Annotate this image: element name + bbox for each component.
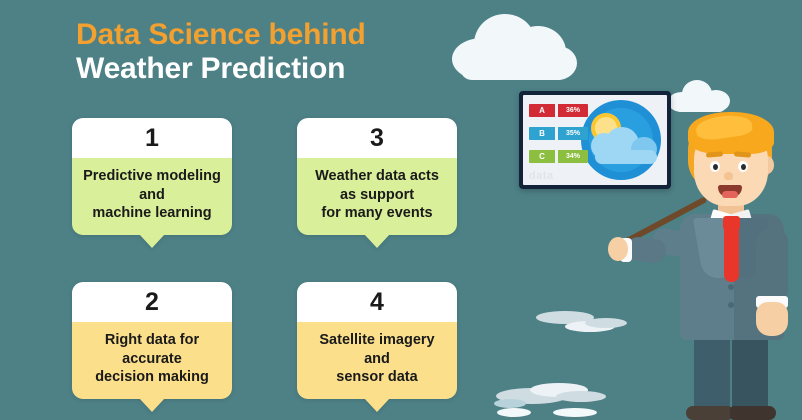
info-card-2[interactable]: 2 Right data for accurate decision makin…	[72, 282, 232, 399]
card-1-header: 1	[72, 118, 232, 158]
card-3-body: Weather data acts as support for many ev…	[297, 158, 457, 235]
cloud-large-icon	[452, 6, 577, 80]
dashboard-cloud-icon	[595, 150, 657, 164]
character-tongue	[722, 191, 738, 198]
ground-puddle	[565, 321, 615, 332]
ground-puddle	[496, 388, 568, 404]
card-1-number: 1	[145, 126, 159, 151]
card-3-header: 3	[297, 118, 457, 158]
monitor-screen: A 36% B 35% C 34% data	[523, 95, 667, 185]
character-right-shoe	[730, 406, 776, 420]
card-1-body: Predictive modeling and machine learning	[72, 158, 232, 235]
legend-value-a: 36%	[558, 104, 588, 117]
weather-dashboard-monitor: A 36% B 35% C 34% data	[519, 91, 671, 189]
character-right-arm	[756, 228, 788, 304]
character-pupil-left	[713, 164, 718, 170]
card-3-pointer-tail	[364, 234, 390, 248]
card-4-number: 4	[370, 290, 384, 315]
character-right-hand	[756, 302, 788, 336]
legend-key-a: A	[529, 104, 555, 117]
legend-key-b: B	[529, 127, 555, 140]
card-4-body: Satellite imagery and sensor data	[297, 322, 457, 399]
card-2-number: 2	[145, 290, 159, 315]
page-title: Data Science behind Weather Prediction	[76, 18, 366, 85]
ground-puddle	[494, 399, 526, 408]
character-tie	[724, 228, 739, 282]
card-2-pointer-tail	[139, 398, 165, 412]
legend-value-c: 34%	[558, 150, 588, 163]
cloud-small-icon	[668, 78, 730, 112]
card-4-pointer-tail	[364, 398, 390, 412]
card-1-text: Predictive modeling and machine learning	[79, 167, 225, 223]
card-3-text: Weather data acts as support for many ev…	[304, 167, 450, 223]
info-card-1[interactable]: 1 Predictive modeling and machine learni…	[72, 118, 232, 235]
legend-row-c: C 34%	[529, 150, 588, 163]
ground-puddle	[585, 318, 627, 328]
character-nose	[724, 172, 733, 180]
ground-puddle	[536, 311, 594, 324]
character-right-leg	[732, 334, 768, 412]
card-2-body: Right data for accurate decision making	[72, 322, 232, 399]
character-pupil-right	[741, 164, 746, 170]
card-3-number: 3	[370, 126, 384, 151]
card-1-pointer-tail	[139, 234, 165, 248]
character-suit-button	[728, 284, 734, 290]
card-2-header: 2	[72, 282, 232, 322]
character-suit-button	[728, 302, 734, 308]
legend-row-b: B 35%	[529, 127, 588, 140]
character-left-hand	[608, 237, 628, 261]
ground-puddle	[530, 383, 588, 397]
info-card-3[interactable]: 3 Weather data acts as support for many …	[297, 118, 457, 235]
title-line-2: Weather Prediction	[76, 52, 366, 86]
character-left-shoe	[686, 406, 732, 420]
legend-value-b: 35%	[558, 127, 588, 140]
title-line-1: Data Science behind	[76, 18, 366, 52]
card-4-text: Satellite imagery and sensor data	[304, 331, 450, 387]
presenter-character	[660, 112, 802, 420]
info-card-4[interactable]: 4 Satellite imagery and sensor data	[297, 282, 457, 399]
ground-puddle	[553, 408, 597, 417]
card-4-header: 4	[297, 282, 457, 322]
legend-row-a: A 36%	[529, 104, 588, 117]
infographic-canvas: Data Science behind Weather Prediction 1…	[0, 0, 802, 420]
ground-puddle	[556, 391, 606, 402]
legend-key-c: C	[529, 150, 555, 163]
card-2-text: Right data for accurate decision making	[79, 331, 225, 387]
ground-puddle	[497, 408, 531, 417]
monitor-watermark: data	[529, 170, 554, 182]
character-left-leg	[694, 334, 730, 412]
